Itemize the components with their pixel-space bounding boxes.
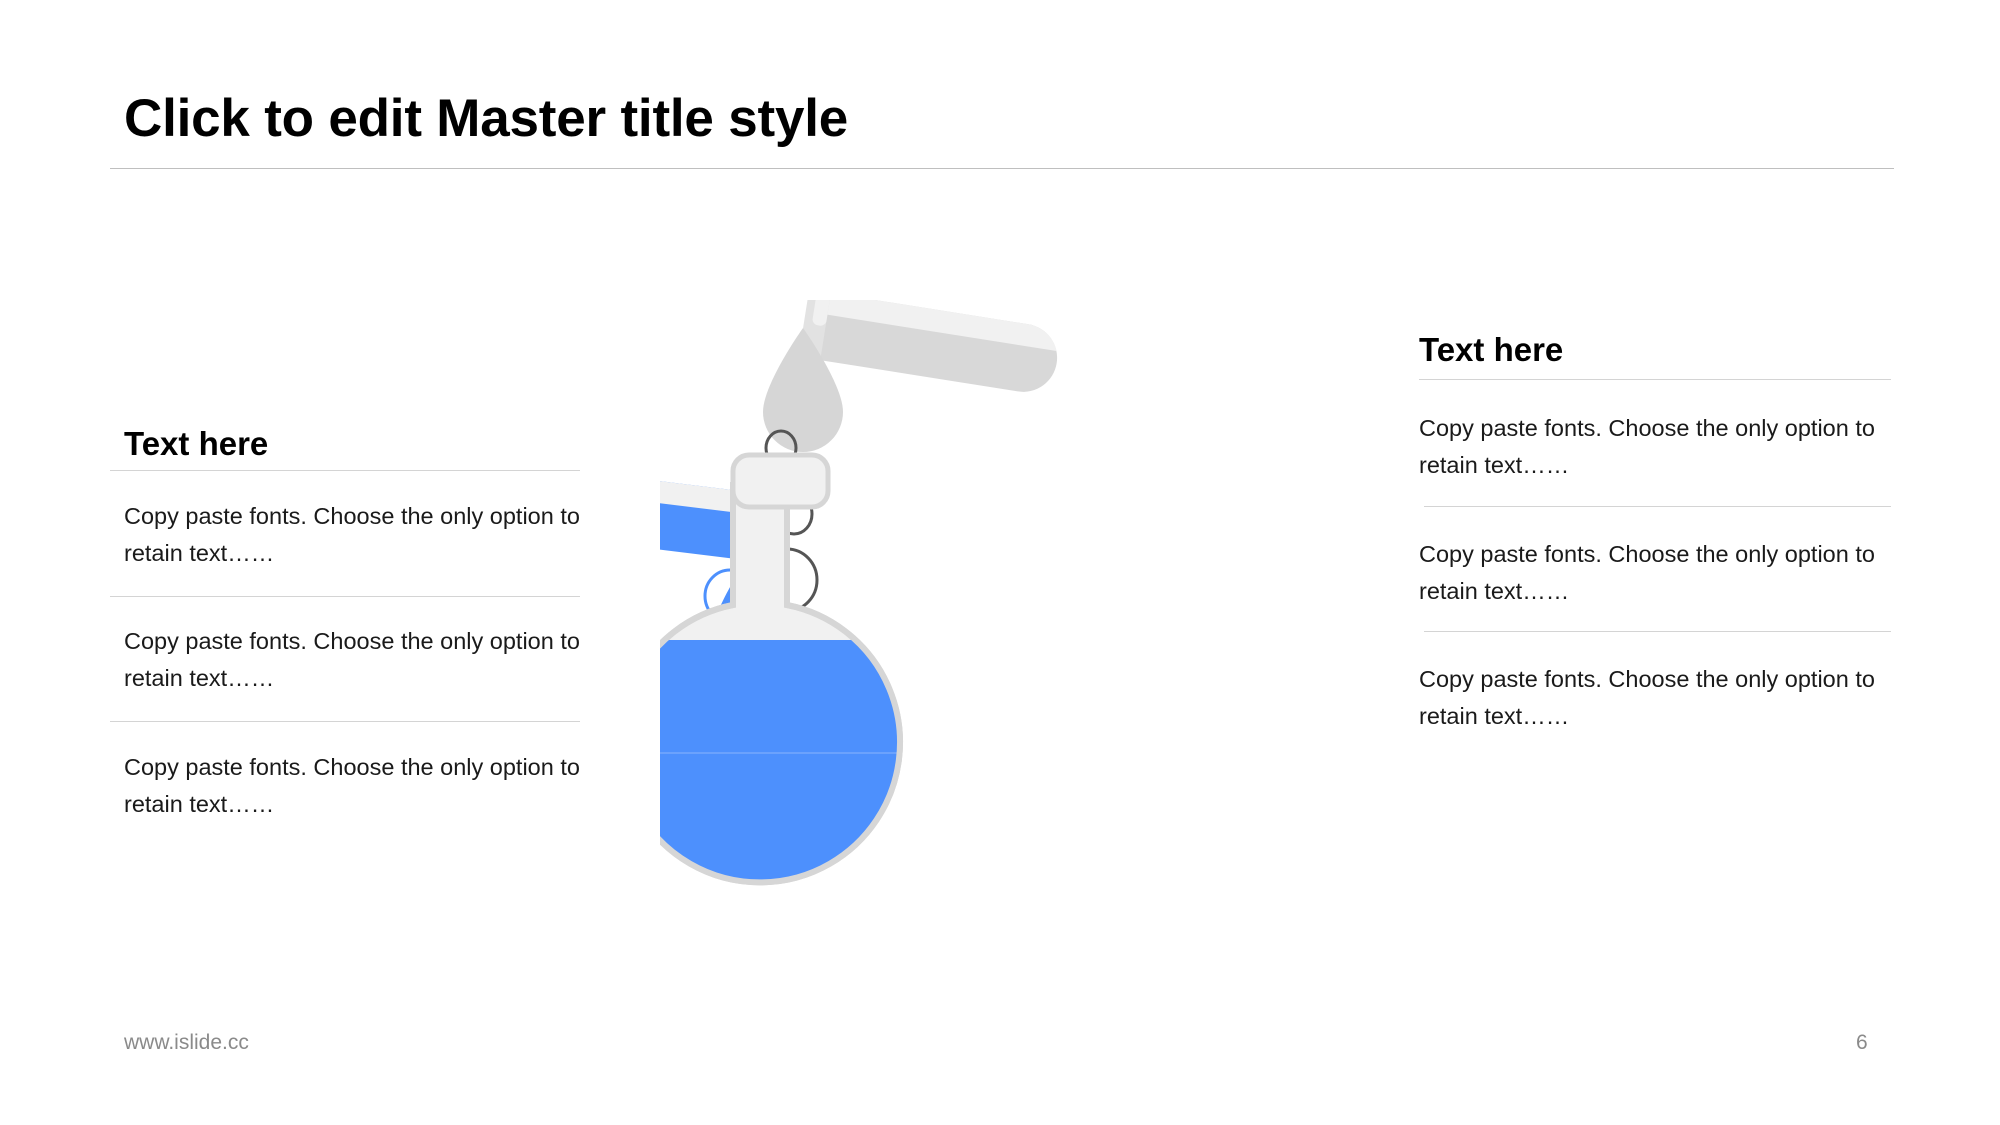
right-paragraph-2: Copy paste fonts. Choose the only option… [1419, 536, 1889, 610]
left-paragraph-2: Copy paste fonts. Choose the only option… [124, 623, 594, 697]
chemistry-flask-illustration [660, 300, 1400, 1040]
footer-url: www.islide.cc [124, 1031, 249, 1055]
page-number: 6 [1856, 1031, 1868, 1055]
right-heading-divider [1419, 379, 1891, 380]
left-paragraph-3: Copy paste fonts. Choose the only option… [124, 749, 594, 823]
right-paragraph-1: Copy paste fonts. Choose the only option… [1419, 410, 1889, 484]
right-divider-1 [1424, 506, 1891, 507]
left-column-heading: Text here [124, 425, 268, 463]
left-paragraph-1: Copy paste fonts. Choose the only option… [124, 498, 594, 572]
left-heading-divider [110, 470, 580, 471]
title-divider [110, 168, 1894, 169]
page-title: Click to edit Master title style [124, 88, 848, 149]
right-paragraph-3: Copy paste fonts. Choose the only option… [1419, 661, 1889, 735]
flask-collar [733, 455, 828, 507]
slide-canvas: Click to edit Master title style [0, 0, 2000, 1125]
right-column-heading: Text here [1419, 331, 1563, 369]
left-divider-2 [110, 721, 580, 722]
left-divider-1 [110, 596, 580, 597]
right-divider-2 [1424, 631, 1891, 632]
